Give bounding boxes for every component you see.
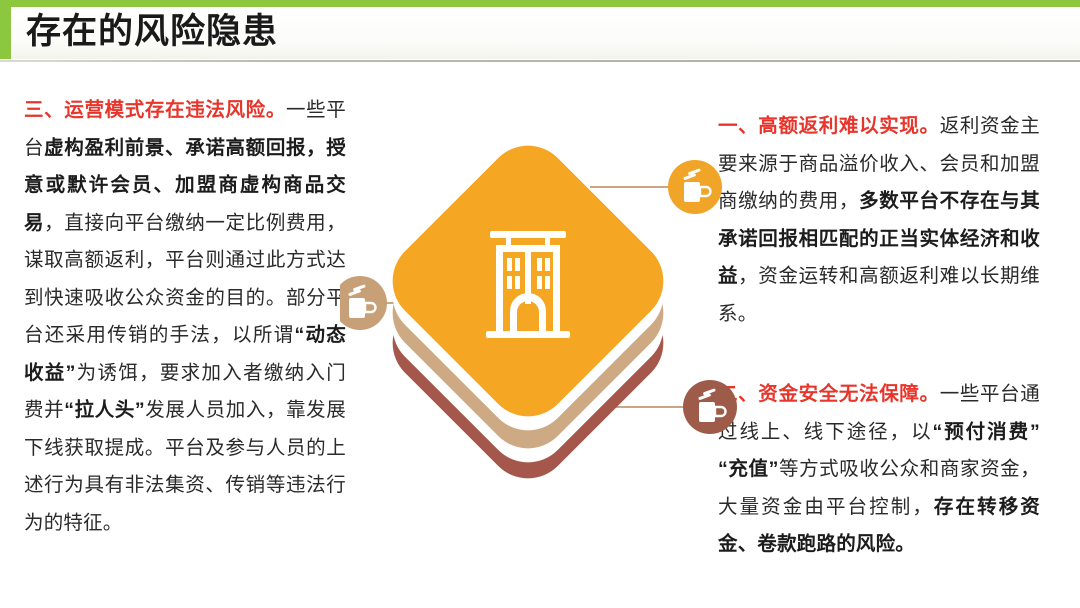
risk-section-one: 一、高额返利难以实现。返利资金主要来源于商品溢价收入、会员和加盟商缴纳的费用，多… — [718, 108, 1040, 333]
risk-section-two-paragraph: 二、资金安全无法保障。一些平台通过线上、线下途径，以“预付消费” “充值”等方式… — [718, 376, 1040, 564]
body-text: ，资金运转和高额返利难以长期维系。 — [718, 265, 1040, 325]
risk-section-two: 二、资金安全无法保障。一些平台通过线上、线下途径，以“预付消费” “充值”等方式… — [718, 376, 1040, 564]
section-heading: 三、运营模式存在违法风险。 — [24, 99, 286, 121]
node-bottom-right — [683, 380, 737, 434]
emphasis-text: “预付消费” — [933, 421, 1040, 443]
risk-section-one-paragraph: 一、高额返利难以实现。返利资金主要来源于商品溢价收入、会员和加盟商缴纳的费用，多… — [718, 108, 1040, 333]
header-green-accent-bar — [0, 7, 11, 59]
stacked-layers-diagram — [340, 95, 740, 515]
node-left — [340, 276, 387, 330]
emphasis-text: “拉人头” — [64, 399, 145, 421]
header-bottom-divider — [0, 60, 1080, 62]
page-header: 存在的风险隐患 — [0, 0, 1080, 64]
risk-section-three-paragraph: 三、运营模式存在违法风险。一些平台虚构盈利前景、承诺高额回报，授意或默许会员、加… — [24, 92, 346, 542]
page-title: 存在的风险隐患 — [26, 4, 278, 59]
section-heading: 二、资金安全无法保障。 — [718, 383, 940, 405]
section-heading: 一、高额返利难以实现。 — [718, 115, 940, 137]
node-top-right — [668, 160, 722, 214]
risk-section-three: 三、运营模式存在违法风险。一些平台虚构盈利前景、承诺高额回报，授意或默许会员、加… — [24, 92, 346, 542]
